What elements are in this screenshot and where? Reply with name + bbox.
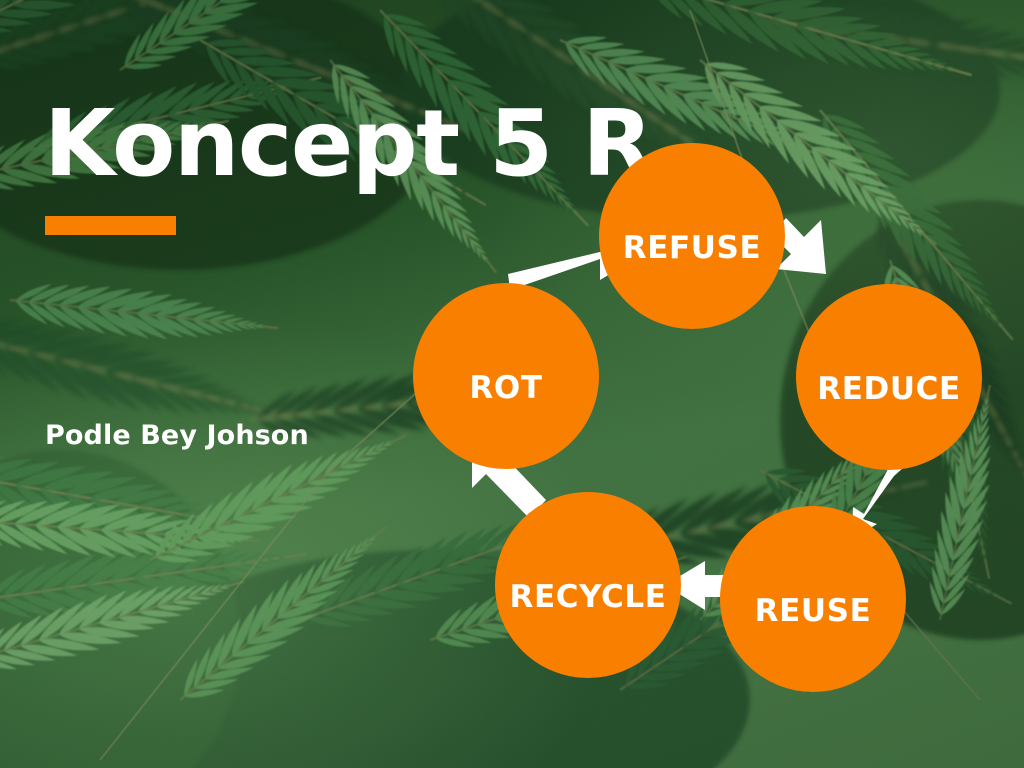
cycle-node-rot[interactable]: ROT [413, 283, 599, 469]
cycle-node-label-refuse: REFUSE [623, 230, 762, 266]
presentation-slide: Koncept 5 R Podle Bey Johson [0, 0, 1024, 768]
cycle-node-reduce[interactable]: REDUCE [796, 284, 982, 470]
cycle-node-recycle[interactable]: RECYCLE [495, 492, 681, 678]
cycle-node-refuse[interactable]: REFUSE [599, 143, 785, 329]
cycle-node-label-reuse: REUSE [755, 593, 872, 629]
subtitle-author: Podle Bey Johson [45, 420, 309, 451]
title-accent-rule [45, 216, 176, 235]
cycle-node-label-rot: ROT [469, 370, 542, 406]
five-r-cycle-diagram: REFUSE REDUCE REUSE RECYCLE ROT [390, 110, 1000, 710]
cycle-node-label-recycle: RECYCLE [509, 579, 666, 615]
cycle-node-reuse[interactable]: REUSE [720, 506, 906, 692]
cycle-node-label-reduce: REDUCE [817, 371, 960, 407]
